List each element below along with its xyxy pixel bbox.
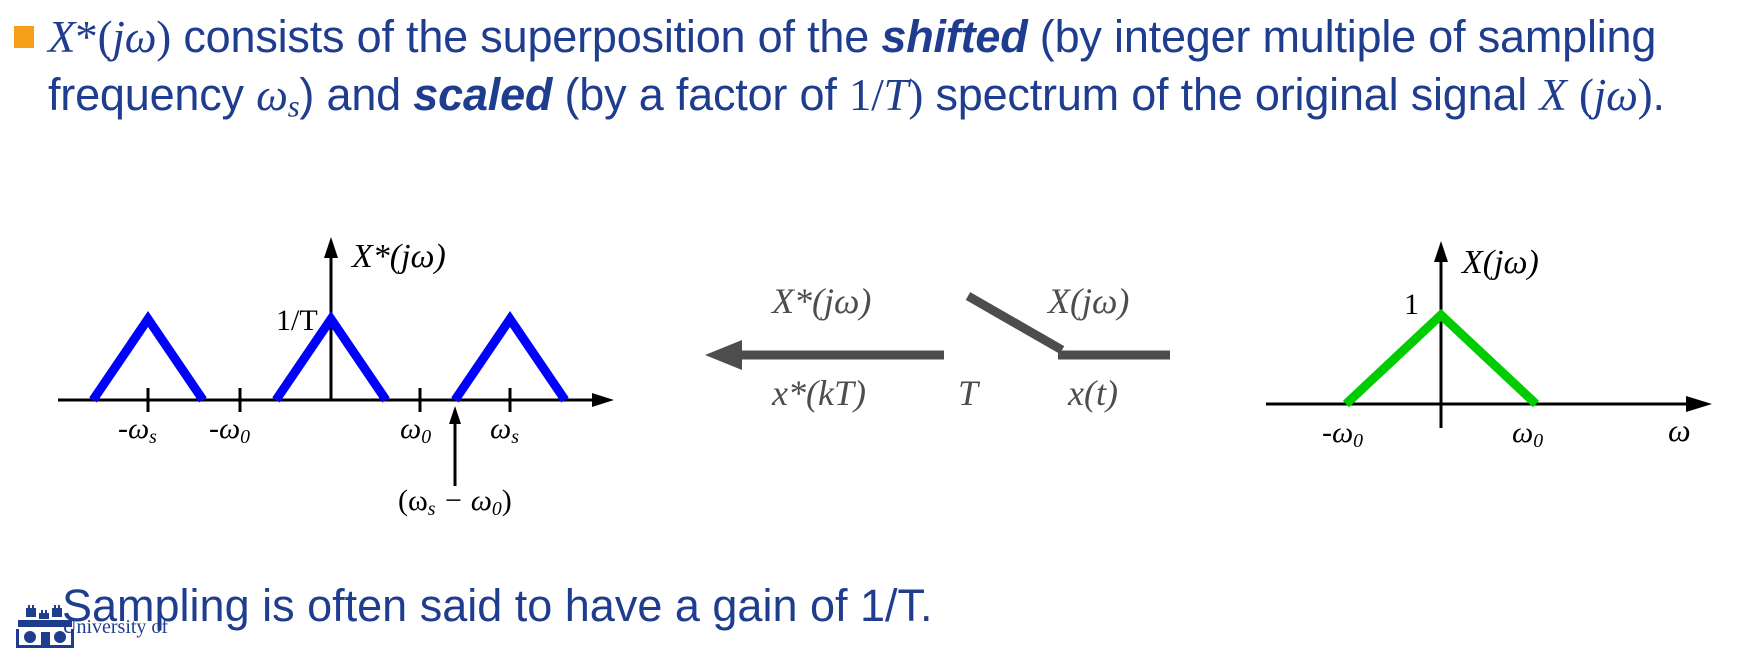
input-bottom-label: x(t) — [1068, 372, 1118, 414]
left-arrow-bottom-label: x*(kT) — [772, 372, 866, 414]
left-chart-annotation: (ωs − ω0) — [398, 484, 512, 521]
left-chart-callout-arrow — [449, 406, 461, 486]
bullet-paragraph-2: Sampling is often said to have a gain of… — [62, 580, 933, 632]
right-chart-peak-label: 1 — [1404, 288, 1419, 322]
right-chart-title: X(jω) — [1462, 244, 1539, 282]
left-chart-peak-label: 1/T — [276, 304, 318, 338]
left-chart-title: X*(jω) — [352, 238, 446, 276]
right-tick-label-w0: ω0 — [1512, 416, 1543, 453]
left-tick-label-ws: ωs — [490, 412, 519, 449]
square-bullet-icon — [14, 26, 34, 48]
left-tick-label-neg-w0: -ω0 — [209, 412, 250, 449]
sampling-spectrum-figure: X*(jω) 1/T -ωs -ω0 ω0 ωs (ωs − ω0) X*(jω… — [0, 232, 1750, 562]
logo-caption: University of — [62, 616, 168, 639]
right-tick-label-neg-w0: -ω0 — [1322, 416, 1363, 453]
right-axis-omega-label: ω — [1668, 412, 1691, 449]
left-arrow-top-label: X*(jω) — [772, 280, 871, 322]
left-tick-label-w0: ω0 — [400, 412, 431, 449]
left-tick-label-neg-ws: -ωs — [118, 412, 157, 449]
input-top-label: X(jω) — [1048, 280, 1129, 322]
flow-left-arrow — [705, 340, 944, 370]
left-chart-trace — [93, 319, 565, 400]
slide-canvas: X*(jω) consists of the superposition of … — [0, 0, 1750, 644]
bullet-paragraph-1: X*(jω) consists of the superposition of … — [48, 8, 1738, 136]
sampler-period-label: T — [958, 372, 978, 414]
